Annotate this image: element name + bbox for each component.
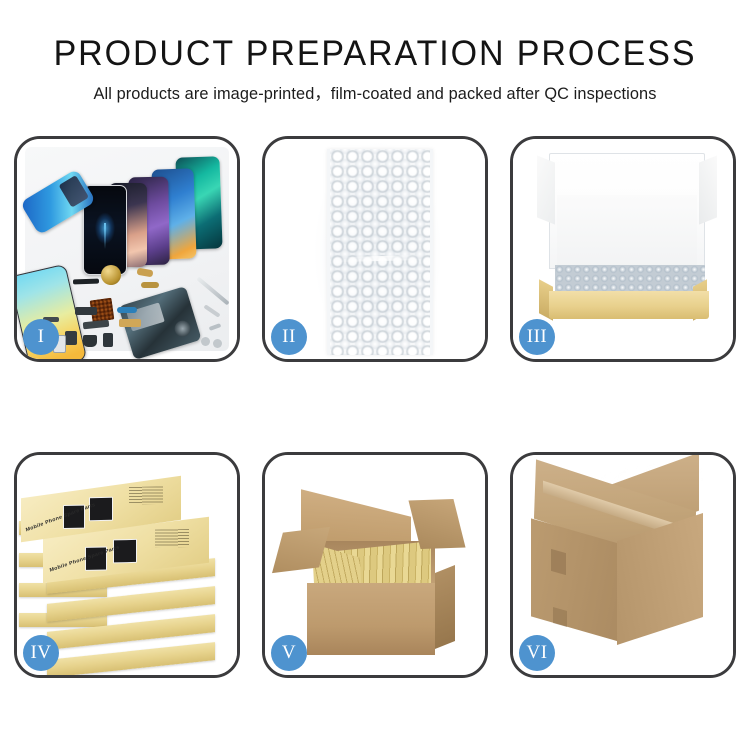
page-title: PRODUCT PREPARATION PROCESS [11,34,739,74]
step-badge-5: V [271,635,307,671]
bubble-wrap-sheet [327,149,433,355]
process-step-2: II [262,136,488,362]
part-button [103,333,113,347]
part-camera-module [83,335,97,347]
box-brand-label: Mobile Phone Spare Parts [25,502,96,533]
carton-handle-tab-top [551,549,566,575]
step-badge-1: I [23,319,59,355]
step-badge-2: II [271,319,307,355]
bubble-wrapped-contents [555,265,705,293]
part-bracket [75,307,97,315]
carton-side-panel [435,565,455,649]
box-art-text-lines [129,486,163,505]
process-steps-grid: I II III [14,136,736,678]
step-badge-3: III [519,319,555,355]
process-step-5: V [262,452,488,678]
process-step-3: III [510,136,736,362]
part-screw-2 [213,339,222,348]
carton-handle-tab-bottom [553,607,567,627]
part-gold-flex [141,282,159,288]
step-badge-4: IV [23,635,59,671]
process-step-1: I [14,136,240,362]
box-front-panel [549,291,709,319]
speaker-module-icon [101,265,121,285]
process-step-6: VI [510,452,736,678]
part-blue-flex [117,307,137,313]
box-art-screen-b [89,497,113,521]
box-art-text-lines [155,529,189,548]
page-header: PRODUCT PREPARATION PROCESS All products… [0,0,750,105]
part-gold-strip [119,319,141,327]
process-step-4: Mobile Phone Spare Parts Mobile Phone Sp… [14,452,240,678]
box-inner-wall [557,195,697,269]
step-badge-6: VI [519,635,555,671]
carton-front-panel [307,583,435,655]
page-subtitle: All products are image-printed，film-coat… [4,83,747,105]
part-small-black [65,331,77,345]
part-screw-1 [201,337,210,346]
part-ribbon [73,279,99,285]
